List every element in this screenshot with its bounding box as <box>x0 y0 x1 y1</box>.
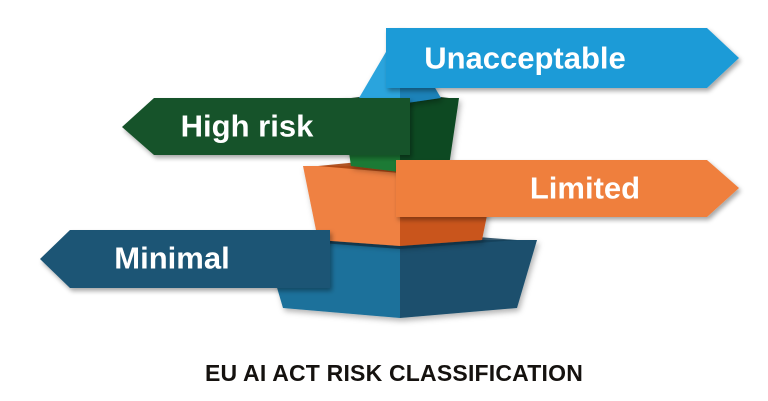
banner-unacceptable-label: Unacceptable <box>424 41 626 76</box>
banner-high-risk[interactable]: High risk <box>122 98 410 155</box>
banner-minimal-label: Minimal <box>114 241 229 276</box>
banner-minimal[interactable]: Minimal <box>40 230 330 288</box>
diagram-canvas: Unacceptable High risk Limited Minimal E… <box>0 0 768 401</box>
banner-limited[interactable]: Limited <box>396 160 739 217</box>
banner-limited-label: Limited <box>530 171 640 206</box>
pyramid-tier-minimal-face-right <box>400 240 537 318</box>
diagram-title: EU AI ACT RISK CLASSIFICATION <box>205 360 583 386</box>
banner-high-risk-label: High risk <box>181 109 314 144</box>
banner-unacceptable[interactable]: Unacceptable <box>386 28 739 88</box>
eu-ai-act-risk-pyramid: Unacceptable High risk Limited Minimal E… <box>0 0 768 401</box>
